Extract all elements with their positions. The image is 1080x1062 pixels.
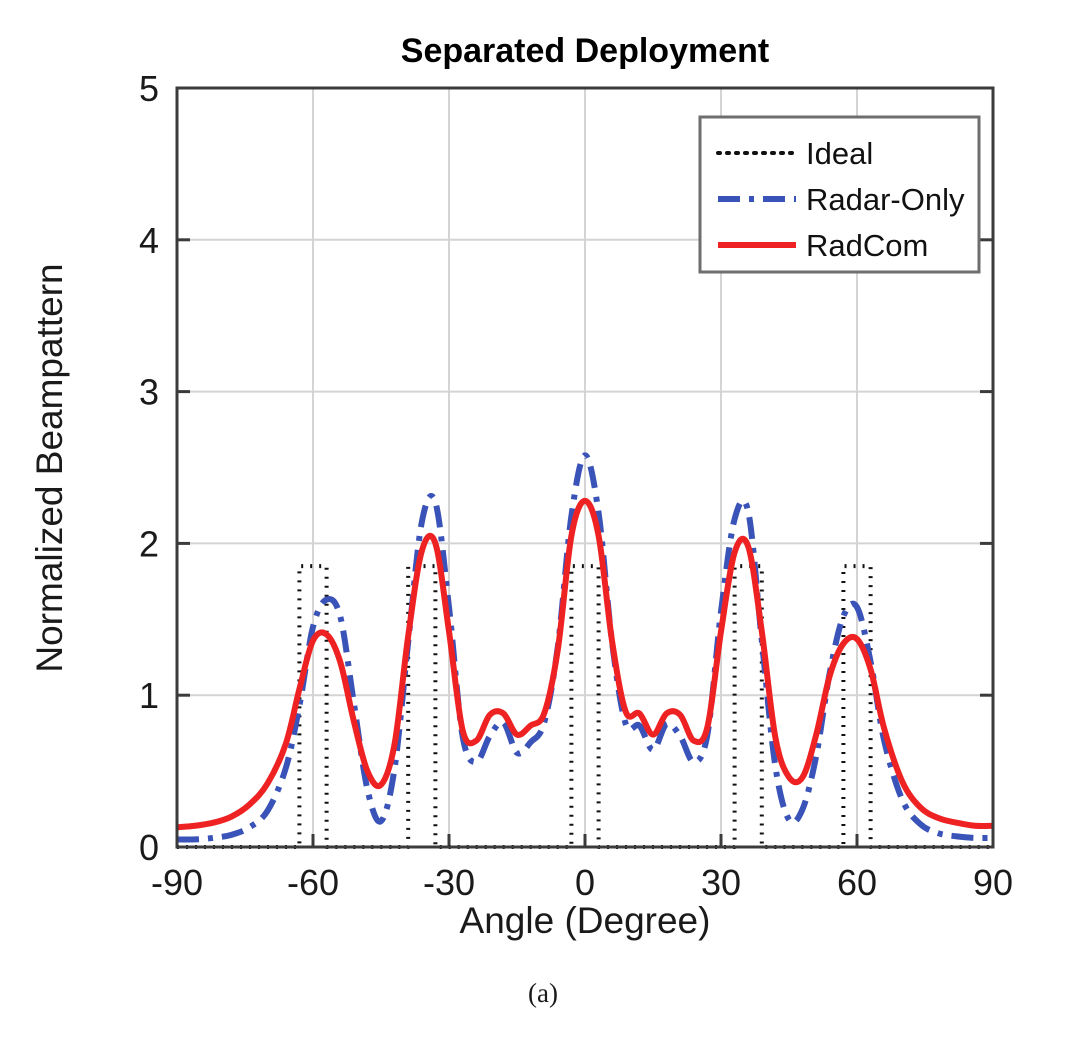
x-tick-label: -30 xyxy=(423,862,475,903)
x-tick-label: 30 xyxy=(701,862,741,903)
beampattern-chart: Separated Deployment -90-60-300306090 01… xyxy=(0,0,1080,1062)
legend-label-radar-only: Radar-Only xyxy=(806,182,965,217)
x-tick-label: 60 xyxy=(837,862,877,903)
legend-label-radcom: RadCom xyxy=(806,228,928,263)
chart-title: Separated Deployment xyxy=(401,32,769,70)
figure-caption: (a) xyxy=(528,978,558,1008)
figure-container: Separated Deployment -90-60-300306090 01… xyxy=(0,0,1080,1062)
y-tick-label: 5 xyxy=(139,68,159,109)
y-tick-label: 2 xyxy=(139,523,159,564)
x-axis-title: Angle (Degree) xyxy=(460,900,711,941)
y-tick-label: 1 xyxy=(139,675,159,716)
x-tick-label: 0 xyxy=(575,862,595,903)
chart-legend[interactable]: IdealRadar-OnlyRadCom xyxy=(700,117,979,272)
x-tick-label: -60 xyxy=(287,862,339,903)
legend-label-ideal: Ideal xyxy=(806,136,873,171)
y-tick-label: 3 xyxy=(139,372,159,413)
y-axis-title: Normalized Beampattern xyxy=(29,263,70,672)
y-tick-label: 4 xyxy=(139,220,159,261)
x-tick-label: 90 xyxy=(973,862,1013,903)
y-tick-label: 0 xyxy=(139,827,159,868)
x-tick-label: -90 xyxy=(151,862,203,903)
